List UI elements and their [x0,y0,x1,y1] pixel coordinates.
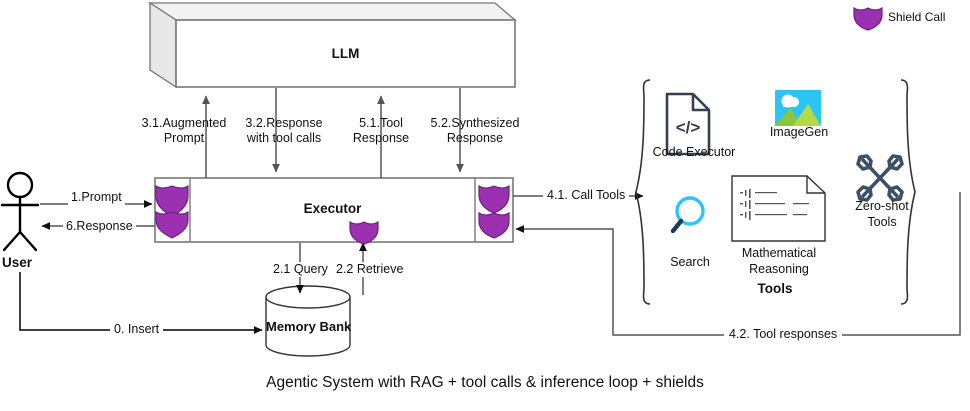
edge-label-tool-response-line1: 5.1.Tool [341,116,421,131]
math-document-icon[interactable] [732,176,825,241]
magnifier-icon[interactable] [673,198,703,231]
edge-label-synthesized-line1: 5.2.Synthesized [424,116,526,131]
edge-label-tool-responses: 4.2. Tool responses [724,327,842,342]
edge-label-augmented-prompt-line1: 3.1.Augmented [138,116,230,131]
memory-bank-label: Memory Bank [266,319,350,334]
tool-label-search: Search [655,255,725,270]
edge-label-prompt: 1.Prompt [68,190,125,205]
edge-label-retrieve: 2.2 Retrieve [334,262,405,277]
user-node[interactable] [2,173,38,250]
edge-label-response-tool-calls-line2: with tool calls [232,131,336,146]
tools-left-brace [636,80,650,304]
diagram-caption: Agentic System with RAG + tool calls & i… [0,374,970,392]
llm-label: LLM [176,46,515,61]
user-label: User [2,255,32,270]
crossed-wrenches-icon[interactable] [858,156,902,200]
memory-bank-top-ellipse [266,286,350,308]
edge-label-synthesized-line2: Response [424,131,526,146]
tool-label-mathematical-reasoning: Mathematical Reasoning [726,245,832,277]
legend-shield-label: Shield Call [888,10,945,25]
edge-label-tool-response-line2: Response [341,131,421,146]
math-document-page [732,176,825,241]
code-file-glyph: </> [676,118,701,137]
tools-group-label: Tools [730,281,820,296]
user-right-leg [20,232,36,250]
magnifier-handle [673,221,681,231]
tool-label-code-executor: Code Executor [648,145,740,160]
tool-label-zero-shot-tools: Zero-shot Tools [847,198,917,230]
edge-label-response-tool-calls-line1: 3.2.Response [232,116,336,131]
image-icon[interactable] [775,90,821,126]
edge-label-insert: 0. Insert [110,322,163,337]
llm-node[interactable] [150,3,515,87]
llm-cube-top-face [150,3,515,20]
edge-label-call-tools: 4.1. Call Tools [543,188,629,203]
shield-icon-legend [854,8,882,30]
user-left-leg [4,232,20,250]
edge-label-response: 6.Response [63,219,136,234]
executor-label: Executor [190,201,475,216]
edge-label-augmented-prompt-line2: Prompt [138,131,230,146]
diagram-canvas: </> [0,0,970,411]
user-head [8,173,32,197]
edge-label-query: 2.1 Query [271,262,330,277]
image-cloud-base [783,102,796,107]
tool-label-imagegen: ImageGen [758,125,840,140]
